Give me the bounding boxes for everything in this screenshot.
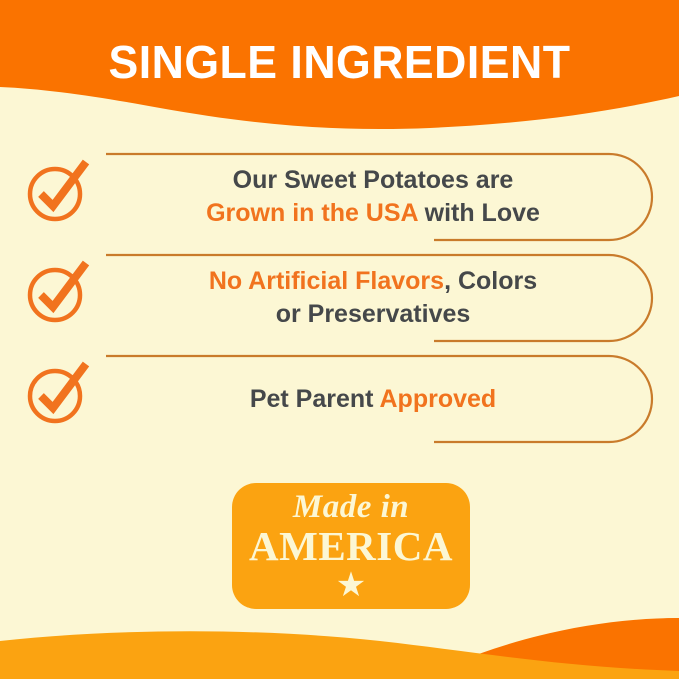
feature-text-segment: Pet Parent — [250, 385, 380, 413]
feature-text: Our Sweet Potatoes are Grown in the USA … — [104, 152, 654, 242]
feature-line: Grown in the USA with Love — [206, 197, 540, 230]
bottom-wave-orange-extend — [437, 618, 679, 679]
feature-line: Pet Parent Approved — [250, 383, 496, 416]
bottom-wave-amber — [0, 631, 679, 679]
feature-text-segment: or Preservatives — [276, 300, 471, 328]
feature-list: Our Sweet Potatoes are Grown in the USA … — [0, 152, 679, 455]
feature-text-segment: , Colors — [444, 267, 537, 295]
feature-text: No Artificial Flavors, Colors or Preserv… — [104, 253, 654, 343]
feature-text-segment-accent: Approved — [380, 385, 497, 413]
single-ingredient-infographic: SINGLE INGREDIENT Our Sweet Potatoes are… — [0, 0, 679, 679]
bottom-wave-orange — [390, 618, 679, 679]
feature-line: Our Sweet Potatoes are — [233, 164, 514, 197]
feature-text: Pet Parent Approved — [104, 354, 654, 444]
feature-row: Pet Parent Approved — [0, 354, 679, 449]
feature-text-segment-accent: Grown in the USA — [206, 199, 418, 227]
badge-made-in-label: Made in — [293, 490, 409, 524]
feature-row: No Artificial Flavors, Colors or Preserv… — [0, 253, 679, 348]
made-in-america-badge: Made in AMERICA ★ — [232, 483, 470, 609]
feature-text-segment: Our Sweet Potatoes are — [233, 166, 514, 194]
feature-line: or Preservatives — [276, 298, 471, 331]
page-title: SINGLE INGREDIENT — [10, 36, 669, 88]
feature-text-segment-accent: No Artificial Flavors — [209, 267, 444, 295]
feature-row: Our Sweet Potatoes are Grown in the USA … — [0, 152, 679, 247]
check-circle-icon — [24, 360, 90, 426]
check-circle-icon — [24, 158, 90, 224]
badge-america-label: AMERICA — [249, 525, 453, 567]
feature-text-segment: with Love — [418, 199, 540, 227]
feature-line: No Artificial Flavors, Colors — [209, 265, 537, 298]
check-circle-icon — [24, 259, 90, 325]
star-icon: ★ — [336, 570, 366, 600]
